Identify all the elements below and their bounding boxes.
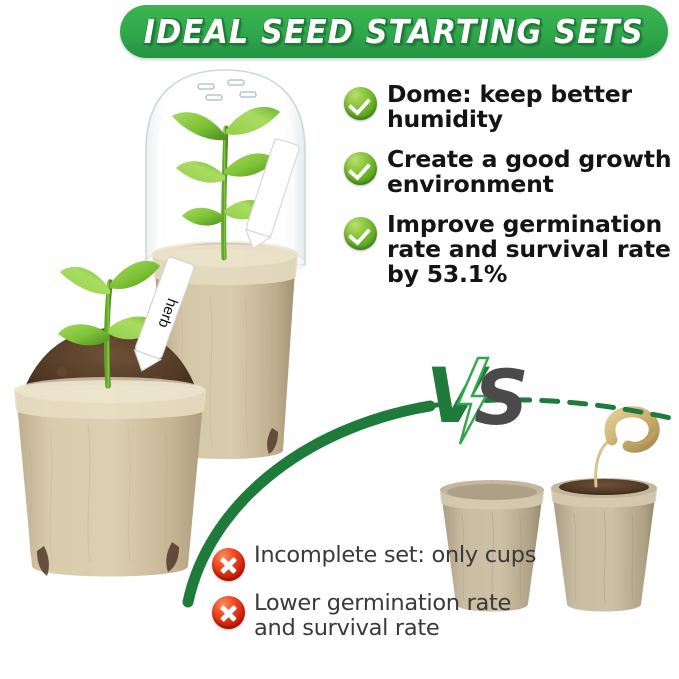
check-circle-icon xyxy=(344,152,377,185)
pro-item: Improve germination rate and survival ra… xyxy=(344,212,679,288)
versus-s-letter: S xyxy=(474,353,529,442)
pro-item-label: Dome: keep better humidity xyxy=(387,82,679,133)
page-title: IDEAL SEED STARTING SETS xyxy=(144,15,644,48)
peat-pot-front: herb xyxy=(14,256,206,576)
con-item: Incomplete set: only cups xyxy=(212,543,542,581)
con-item-label: Incomplete set: only cups xyxy=(254,543,536,568)
pro-item-label: Create a good growth environment xyxy=(387,147,679,198)
cross-circle-icon xyxy=(212,596,245,629)
cross-circle-icon xyxy=(212,548,245,581)
peat-cup-with-wilted-sprout xyxy=(551,412,657,612)
pro-item: Dome: keep better humidity xyxy=(344,82,679,133)
con-item-label: Lower germination rate and survival rate xyxy=(254,591,542,641)
wilted-sprout xyxy=(596,412,656,486)
check-circle-icon xyxy=(344,87,377,120)
pro-item-label: Improve germination rate and survival ra… xyxy=(387,212,679,288)
product-infographic: herb xyxy=(0,0,679,679)
cons-list: Incomplete set: only cups Lower germinat… xyxy=(212,543,542,651)
versus-badge: V S xyxy=(424,352,544,448)
con-item: Lower germination rate and survival rate xyxy=(212,591,542,641)
pros-list: Dome: keep better humidity Create a good… xyxy=(344,82,679,302)
title-banner: IDEAL SEED STARTING SETS xyxy=(120,5,668,58)
check-circle-icon xyxy=(344,217,377,250)
pro-item: Create a good growth environment xyxy=(344,147,679,198)
